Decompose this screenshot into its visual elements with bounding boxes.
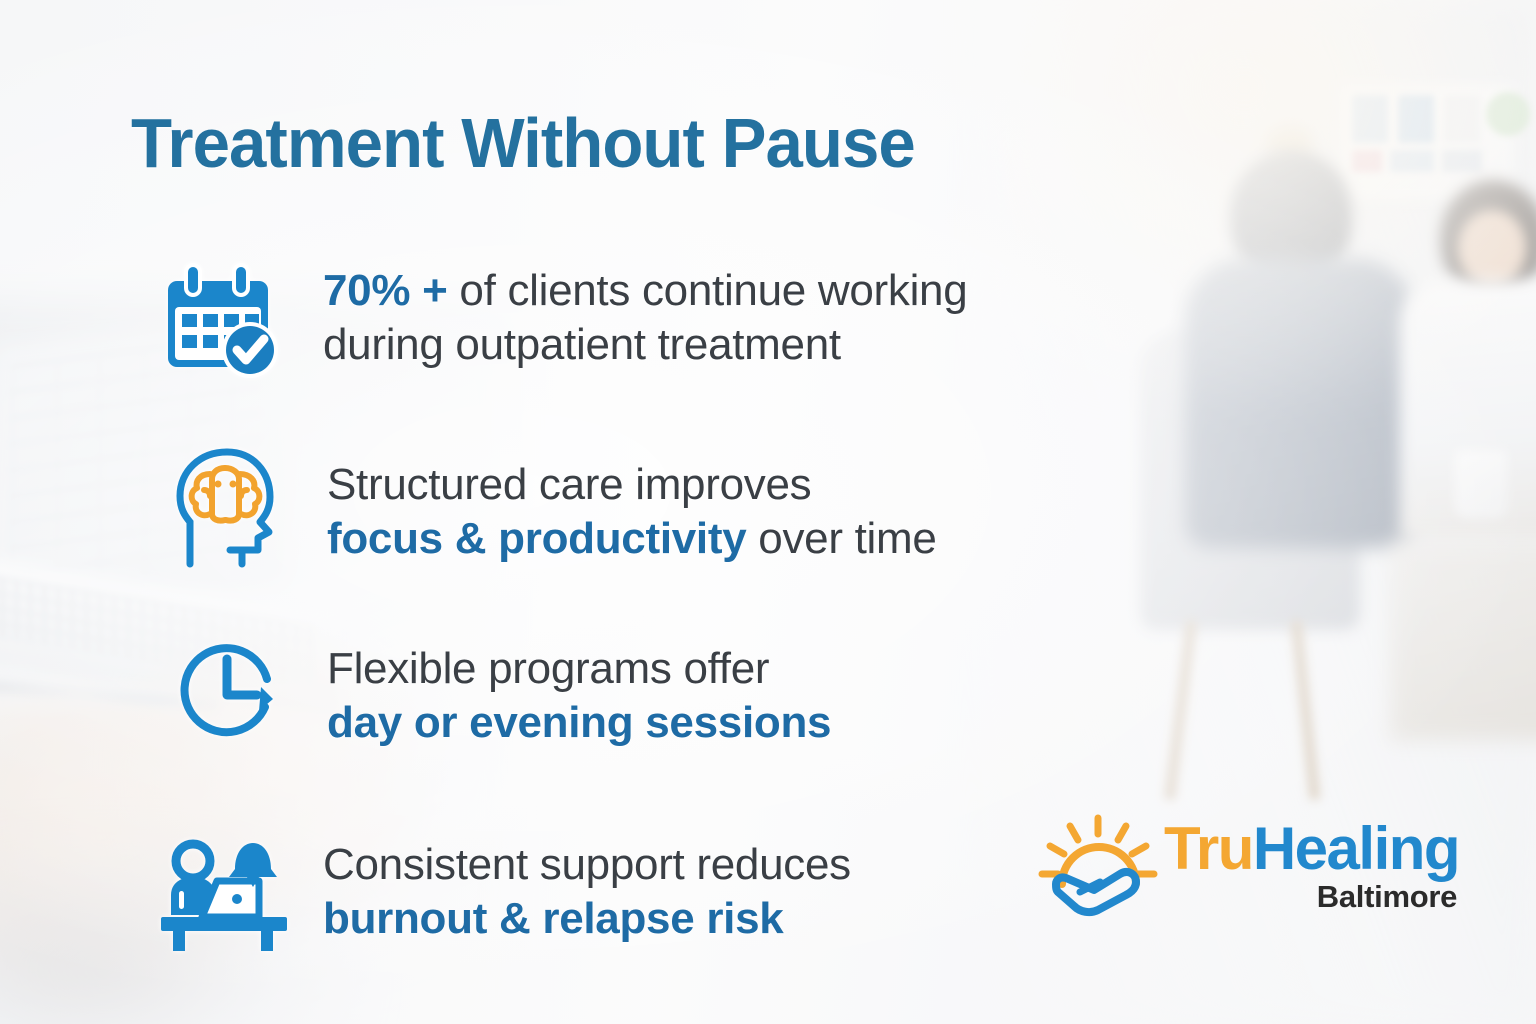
brand-name: TruHealing [1164, 820, 1459, 877]
list-item: Consistent support reduces burnout & rel… [160, 828, 851, 956]
head-brain-icon [164, 448, 292, 568]
brand-logo[interactable]: TruHealing Baltimore [1036, 806, 1491, 936]
page-title: Treatment Without Pause [131, 103, 915, 183]
bullet-highlight: 70% + [323, 266, 448, 315]
list-item: 70% + of clients continue working during… [160, 258, 967, 386]
bullet-text: Structured care improves [327, 460, 811, 509]
bullet-highlight: day or evening sessions [327, 698, 831, 747]
bullet-highlight: focus & productivity [327, 514, 746, 563]
bullet-text: Consistent support reduces [323, 840, 851, 889]
list-item-text: Flexible programs offer day or evening s… [327, 632, 831, 749]
brand-wordmark: TruHealing Baltimore [1164, 820, 1459, 915]
bullet-text: Flexible programs offer [327, 644, 769, 693]
bullet-highlight: burnout & relapse risk [323, 894, 783, 943]
bullet-text-line2: during outpatient treatment [323, 320, 841, 369]
clock-icon [164, 632, 292, 752]
list-item-text: 70% + of clients continue working during… [323, 258, 967, 371]
sun-over-hand-icon [1036, 812, 1164, 920]
brand-name-part1: Tru [1164, 815, 1253, 882]
calendar-check-icon [160, 258, 288, 386]
bullet-text-line2: over time [746, 514, 936, 563]
brand-city: Baltimore [1164, 879, 1459, 915]
list-item: Flexible programs offer day or evening s… [164, 632, 831, 752]
bullet-text: of clients continue working [448, 266, 968, 315]
list-item: Structured care improves focus & product… [164, 448, 937, 568]
person-desk-bell-icon [160, 828, 288, 956]
list-item-text: Consistent support reduces burnout & rel… [323, 828, 851, 945]
infographic-content: Treatment Without Pause [0, 0, 1536, 1024]
brand-name-part2: Healing [1253, 815, 1459, 882]
list-item-text: Structured care improves focus & product… [327, 448, 937, 565]
